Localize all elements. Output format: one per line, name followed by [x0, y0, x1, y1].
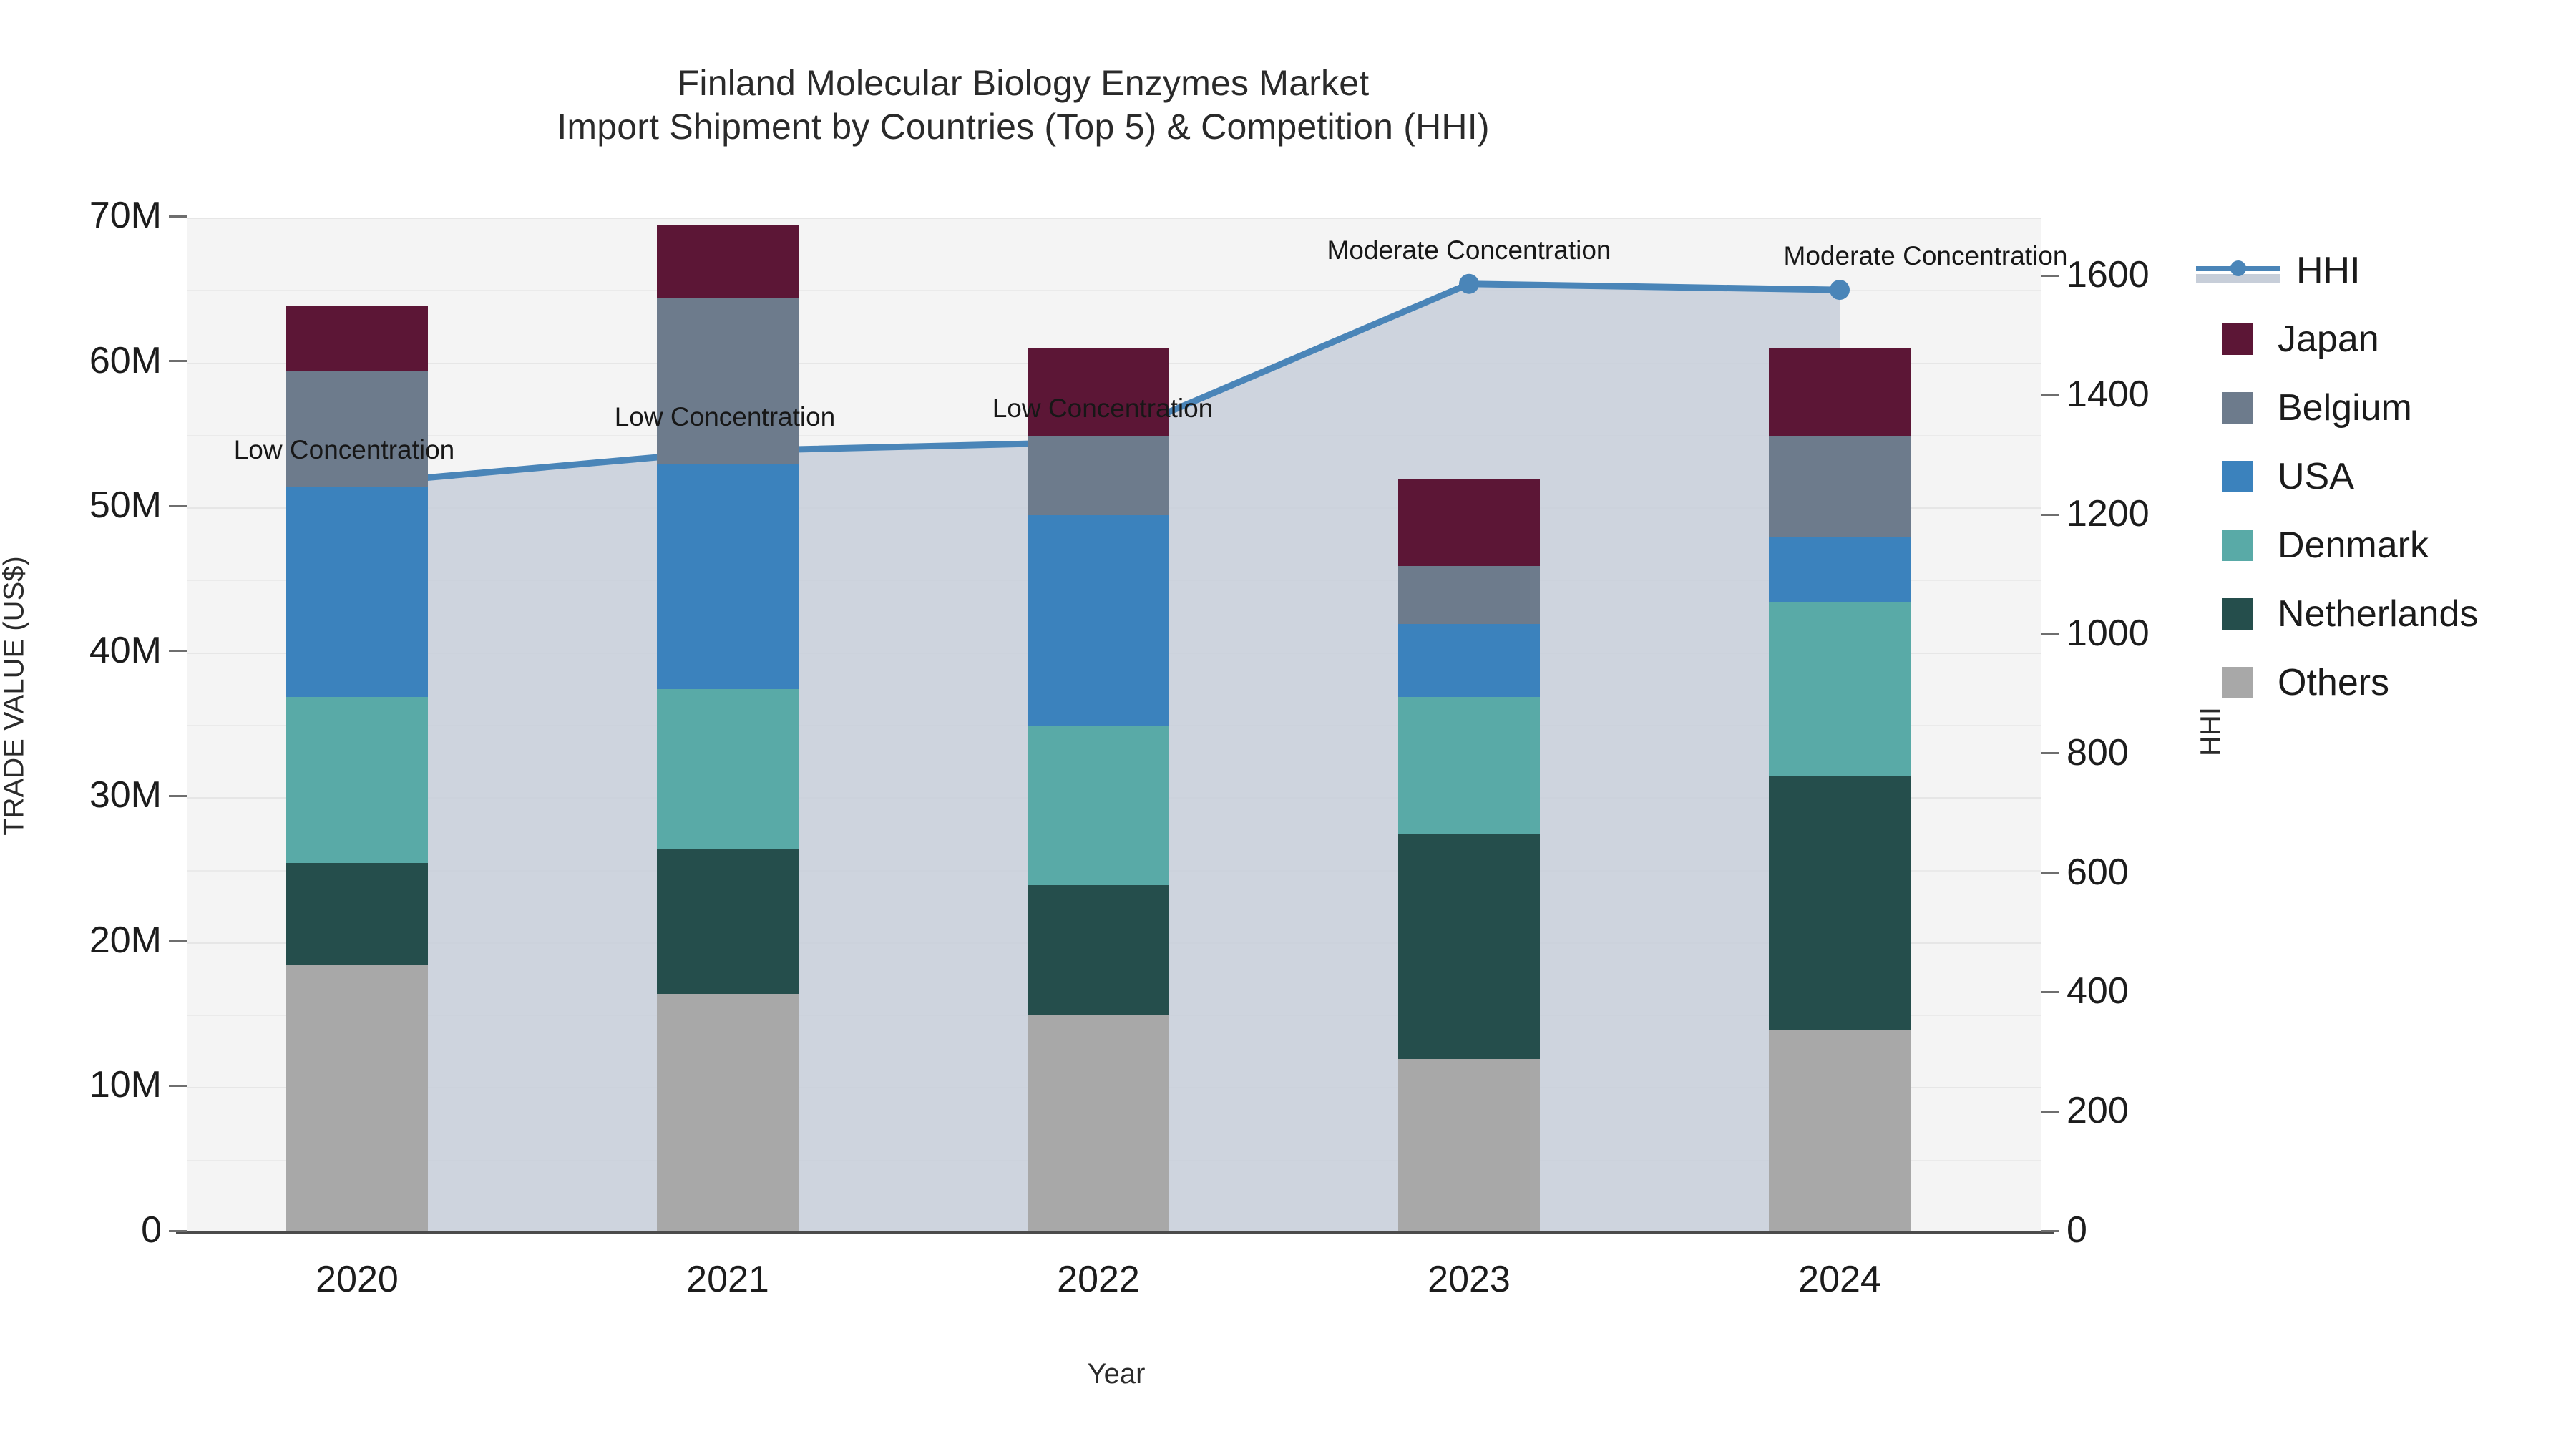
y-axis-tick: 0	[0, 1209, 187, 1252]
concentration-annotation: Low Concentration	[992, 394, 1214, 424]
x-axis-line	[176, 1231, 2054, 1234]
chart-root: Finland Molecular Biology Enzymes Market…	[0, 0, 2576, 1449]
bar-segment-belgium[interactable]	[1398, 566, 1540, 624]
bar-segment-denmark[interactable]	[1028, 726, 1169, 885]
concentration-annotation: Low Concentration	[615, 402, 836, 432]
legend-item-netherlands[interactable]: Netherlands	[2222, 580, 2478, 648]
bar-segment-belgium[interactable]	[657, 298, 799, 464]
legend-swatch-icon	[2222, 461, 2253, 492]
bar-segment-others[interactable]	[1028, 1015, 1169, 1233]
bar-segment-others[interactable]	[657, 994, 799, 1233]
y-tick-label: 60M	[89, 340, 162, 381]
concentration-annotation: Low Concentration	[234, 435, 455, 465]
y-tick-label: 50M	[89, 484, 162, 526]
bar-stack[interactable]	[657, 218, 799, 1233]
chart-title-line-1: Finland Molecular Biology Enzymes Market	[0, 62, 2046, 105]
bar-segment-others[interactable]	[1769, 1030, 1911, 1233]
legend: HHIJapanBelgiumUSADenmarkNetherlandsOthe…	[2222, 236, 2478, 717]
y2-axis-tick: 400	[2041, 970, 2129, 1013]
bar-segment-others[interactable]	[286, 965, 428, 1233]
bar-segment-usa[interactable]	[657, 464, 799, 689]
bar-segment-usa[interactable]	[1769, 537, 1911, 602]
legend-label: Netherlands	[2278, 595, 2478, 633]
y2-axis-tick: 1000	[2041, 612, 2150, 655]
y2-tick-label: 1400	[2067, 374, 2150, 415]
legend-item-denmark[interactable]: Denmark	[2222, 511, 2478, 580]
bar-segment-denmark[interactable]	[1769, 602, 1911, 776]
bar-stack[interactable]	[286, 218, 428, 1233]
bar-segment-netherlands[interactable]	[657, 849, 799, 994]
legend-swatch-icon	[2222, 530, 2253, 561]
y2-axis-tick: 1200	[2041, 492, 2150, 535]
y2-axis-tick: 600	[2041, 851, 2129, 894]
y2-tick-label: 400	[2067, 970, 2129, 1012]
y-tick-label: 40M	[89, 630, 162, 671]
x-axis-tick-2024: 2024	[1732, 1258, 1947, 1301]
legend-label: Belgium	[2278, 389, 2412, 426]
chart-title-line-2: Import Shipment by Countries (Top 5) & C…	[0, 105, 2046, 149]
bar-segment-japan[interactable]	[657, 225, 799, 298]
y-tick-label: 0	[141, 1209, 162, 1251]
bar-segment-belgium[interactable]	[1769, 436, 1911, 537]
legend-item-usa[interactable]: USA	[2222, 442, 2478, 511]
bar-segment-japan[interactable]	[1398, 479, 1540, 567]
x-axis-tick-2021: 2021	[620, 1258, 835, 1301]
y2-tick-label: 1600	[2067, 254, 2150, 296]
legend-line-icon	[2196, 254, 2280, 287]
bar-segment-japan[interactable]	[1769, 348, 1911, 436]
y2-tick-label: 200	[2067, 1090, 2129, 1131]
y2-axis-tick: 800	[2041, 731, 2129, 774]
bar-segment-netherlands[interactable]	[1028, 885, 1169, 1015]
bar-segment-usa[interactable]	[1398, 624, 1540, 696]
concentration-annotation: Moderate Concentration	[1784, 241, 2068, 271]
y2-tick-label: 600	[2067, 852, 2129, 893]
legend-label: HHI	[2296, 252, 2361, 289]
x-axis-tick-2020: 2020	[250, 1258, 464, 1301]
bar-segment-japan[interactable]	[286, 306, 428, 371]
bar-segment-denmark[interactable]	[286, 697, 428, 864]
legend-label: Japan	[2278, 321, 2379, 358]
bar-segment-belgium[interactable]	[1028, 436, 1169, 515]
y-tick-label: 10M	[89, 1064, 162, 1106]
bar-segment-belgium[interactable]	[286, 371, 428, 487]
legend-item-hhi[interactable]: HHI	[2222, 236, 2478, 305]
bar-stack[interactable]	[1769, 218, 1911, 1233]
y2-tick-label: 1200	[2067, 493, 2150, 535]
y-axis-tick: 60M	[0, 339, 187, 382]
y-tick-label: 30M	[89, 774, 162, 816]
concentration-annotation: Moderate Concentration	[1327, 235, 1611, 265]
bar-segment-netherlands[interactable]	[1398, 834, 1540, 1059]
legend-label: Others	[2278, 664, 2389, 701]
legend-item-belgium[interactable]: Belgium	[2222, 374, 2478, 442]
legend-swatch-icon	[2222, 667, 2253, 698]
legend-swatch-icon	[2222, 392, 2253, 424]
x-axis-title: Year	[902, 1358, 1331, 1390]
chart-title: Finland Molecular Biology Enzymes Market…	[0, 62, 2046, 149]
legend-label: USA	[2278, 458, 2354, 495]
y2-axis-tick: 1400	[2041, 373, 2150, 416]
legend-item-japan[interactable]: Japan	[2222, 305, 2478, 374]
bar-segment-netherlands[interactable]	[1769, 776, 1911, 1030]
bar-segment-denmark[interactable]	[1398, 697, 1540, 834]
bar-segment-others[interactable]	[1398, 1059, 1540, 1233]
legend-item-others[interactable]: Others	[2222, 648, 2478, 717]
plot-area	[187, 218, 2041, 1233]
legend-label: Denmark	[2278, 527, 2429, 564]
y2-tick-label: 0	[2067, 1209, 2087, 1251]
x-axis-tick-2023: 2023	[1362, 1258, 1576, 1301]
bar-segment-netherlands[interactable]	[286, 863, 428, 965]
bar-segment-usa[interactable]	[1028, 515, 1169, 726]
y2-axis-tick: 200	[2041, 1089, 2129, 1132]
y-tick-label: 20M	[89, 919, 162, 961]
bar-segment-usa[interactable]	[286, 487, 428, 697]
legend-swatch-icon	[2222, 323, 2253, 355]
y-axis-tick: 70M	[0, 194, 187, 237]
x-axis-tick-2022: 2022	[991, 1258, 1206, 1301]
y-axis-title: TRADE VALUE (US$)	[0, 446, 31, 947]
y2-tick-label: 800	[2067, 732, 2129, 774]
legend-swatch-icon	[2222, 598, 2253, 630]
y2-tick-label: 1000	[2067, 613, 2150, 654]
y2-axis-tick: 0	[2041, 1209, 2087, 1252]
bar-segment-denmark[interactable]	[657, 689, 799, 849]
y-tick-label: 70M	[89, 195, 162, 236]
bar-stack[interactable]	[1028, 218, 1169, 1233]
y-axis-tick: 10M	[0, 1063, 187, 1106]
bar-stack[interactable]	[1398, 218, 1540, 1233]
